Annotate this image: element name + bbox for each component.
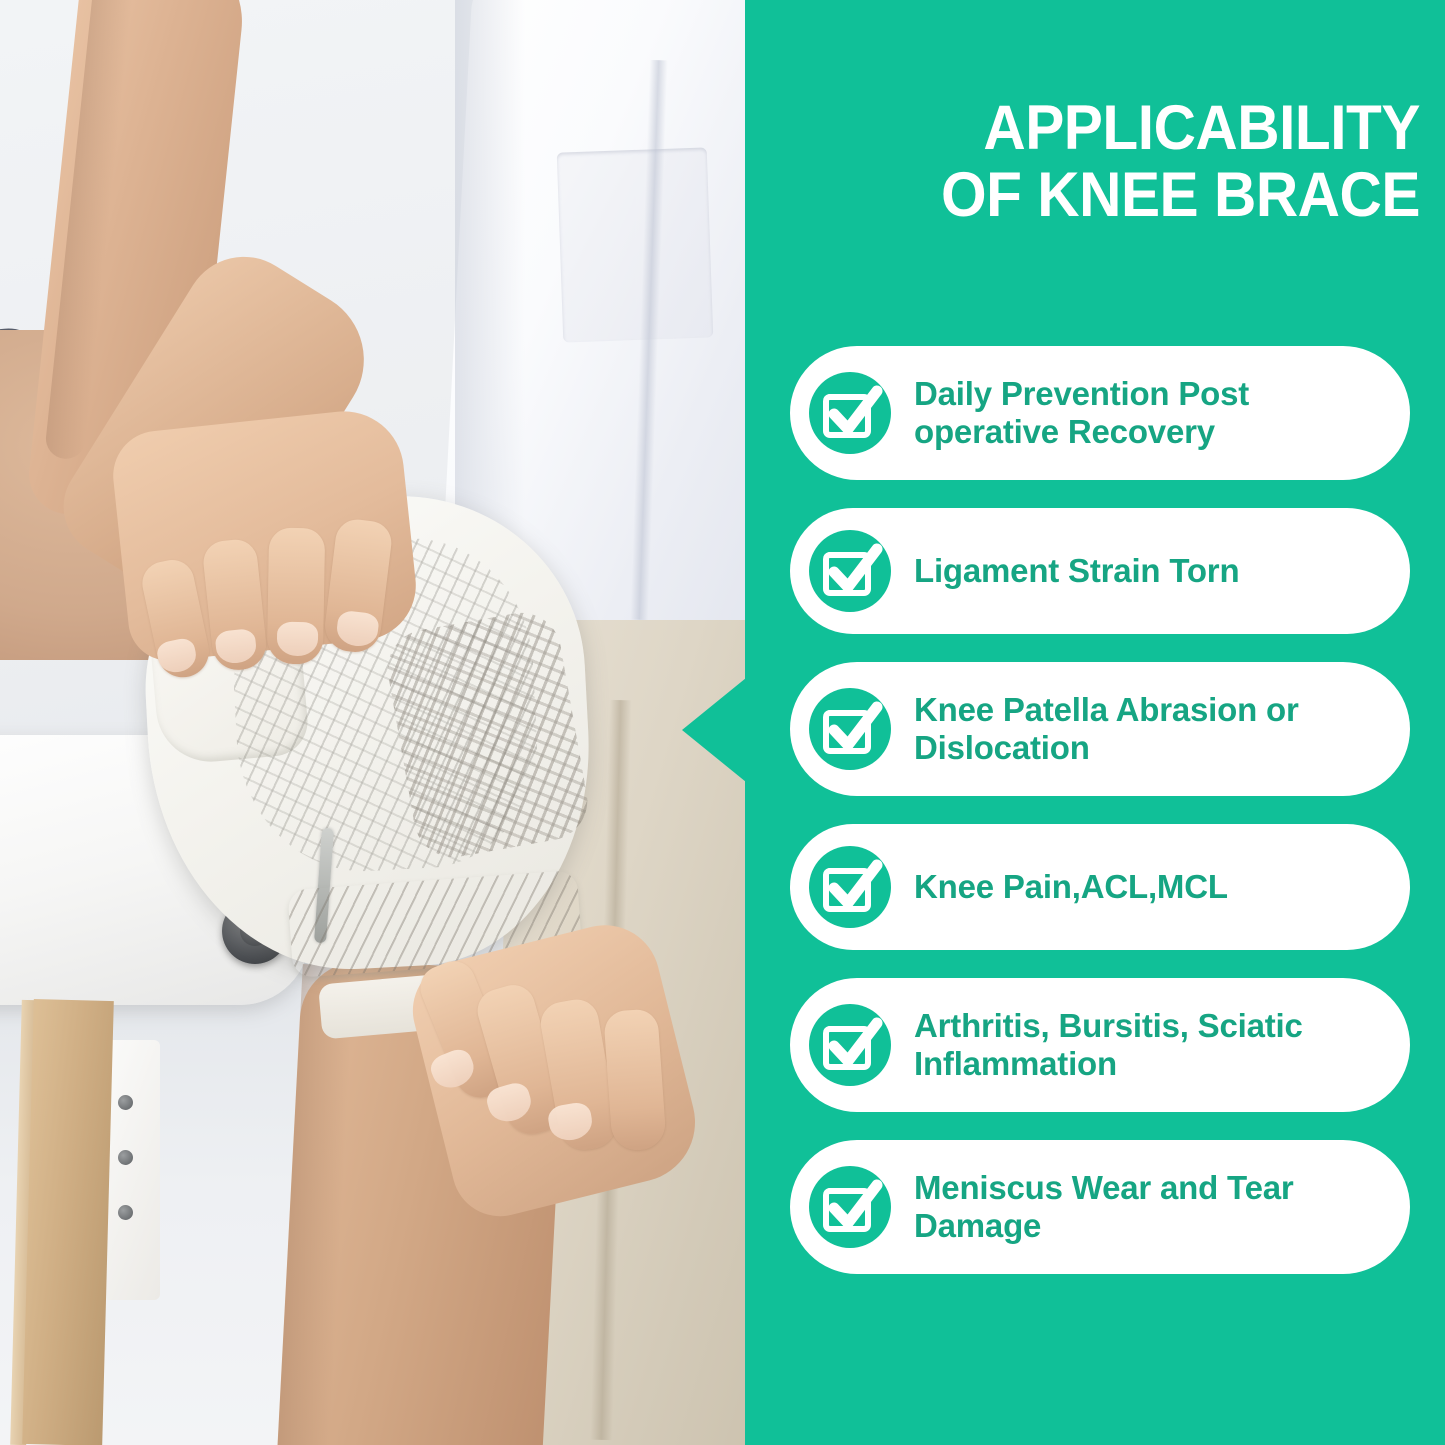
page-title: APPLICABILITY OF KNEE BRACE <box>839 95 1420 229</box>
table-bolt <box>118 1095 133 1110</box>
list-item-label: Knee Patella Abrasion or Dislocation <box>914 691 1380 768</box>
table-bolt <box>118 1205 133 1220</box>
list-item-label: Arthritis, Bursitis, Sciatic Inflammatio… <box>914 1007 1380 1084</box>
check-square-icon <box>798 993 902 1097</box>
list-item[interactable]: Knee Pain,ACL,MCL <box>790 824 1410 950</box>
list-item[interactable]: Arthritis, Bursitis, Sciatic Inflammatio… <box>790 978 1410 1112</box>
check-square-icon <box>798 519 902 623</box>
check-square-icon <box>798 835 902 939</box>
list-item-label: Ligament Strain Torn <box>914 552 1239 590</box>
page-title-line2: OF KNEE BRACE <box>839 162 1420 229</box>
check-square-icon <box>798 677 902 781</box>
finger <box>603 1008 667 1151</box>
list-item-label: Meniscus Wear and Tear Damage <box>914 1169 1380 1246</box>
list-item[interactable]: Daily Prevention Post operative Recovery <box>790 346 1410 480</box>
panel-pointer-arrow-icon <box>682 678 746 782</box>
table-bolt <box>118 1150 133 1165</box>
knee-brace-applicability-poster: APPLICABILITY OF KNEE BRACE Daily Preven… <box>0 0 1445 1445</box>
list-item[interactable]: Ligament Strain Torn <box>790 508 1410 634</box>
list-item-label: Knee Pain,ACL,MCL <box>914 868 1228 906</box>
applicability-list: Daily Prevention Post operative Recovery… <box>790 346 1410 1302</box>
table-wooden-leg <box>22 999 114 1445</box>
therapy-photo <box>0 0 748 1445</box>
list-item-label: Daily Prevention Post operative Recovery <box>914 375 1380 452</box>
check-square-icon <box>798 361 902 465</box>
list-item[interactable]: Meniscus Wear and Tear Damage <box>790 1140 1410 1274</box>
list-item[interactable]: Knee Patella Abrasion or Dislocation <box>790 662 1410 796</box>
coat-pocket <box>557 147 714 342</box>
check-square-icon <box>798 1155 902 1259</box>
page-title-line1: APPLICABILITY <box>839 95 1420 162</box>
